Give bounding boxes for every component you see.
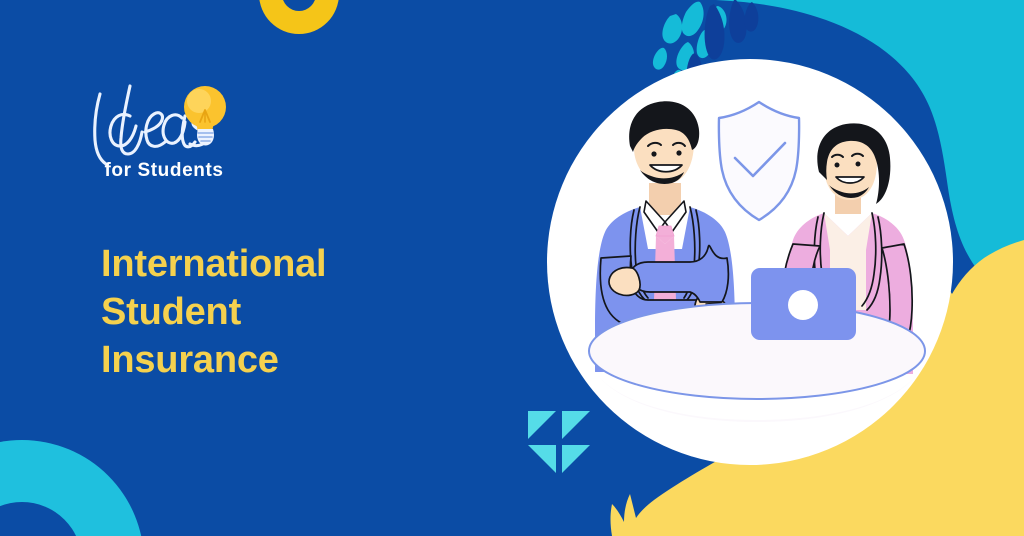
triangle-bottom-left: [528, 445, 556, 473]
logo-graphic: for Students: [86, 72, 242, 192]
triangle-bottom-right: [562, 445, 590, 473]
cyan-triangle-grid: [528, 411, 590, 473]
page-title: International Student Insurance: [101, 240, 431, 384]
banner-root: for Students International Student Insur…: [0, 0, 1024, 536]
triangle-top-left: [528, 411, 556, 439]
logo-tagline: for Students: [104, 160, 223, 181]
triangle-top-right: [562, 411, 590, 439]
logo[interactable]: for Students: [86, 72, 242, 192]
laptop: [751, 268, 856, 340]
